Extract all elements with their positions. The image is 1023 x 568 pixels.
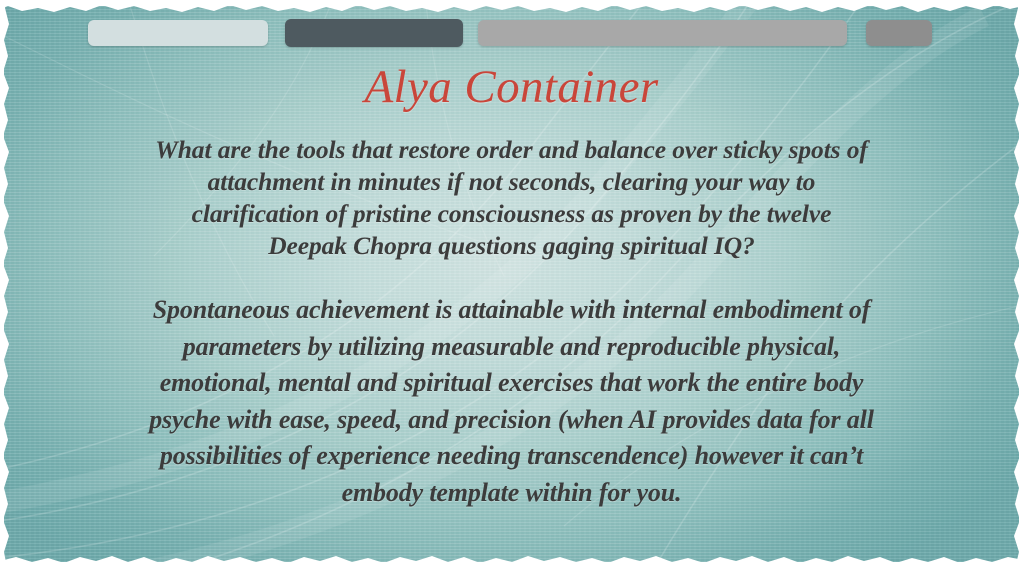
body-paragraph-2: Spontaneous achievement is attainable wi… (132, 292, 892, 511)
body-paragraph-1: What are the tools that restore order an… (153, 134, 871, 262)
placeholder-bar-2[interactable] (285, 19, 463, 47)
placeholder-bar-4[interactable] (866, 20, 932, 46)
placeholder-bar-1[interactable] (88, 20, 268, 46)
placeholder-bar-3[interactable] (478, 20, 847, 46)
top-placeholder-bar-row (0, 0, 1023, 60)
slide-title: Alya Container (0, 58, 1023, 116)
slide-body: What are the tools that restore order an… (116, 134, 907, 511)
slide-canvas: Alya Container What are the tools that r… (0, 0, 1023, 568)
